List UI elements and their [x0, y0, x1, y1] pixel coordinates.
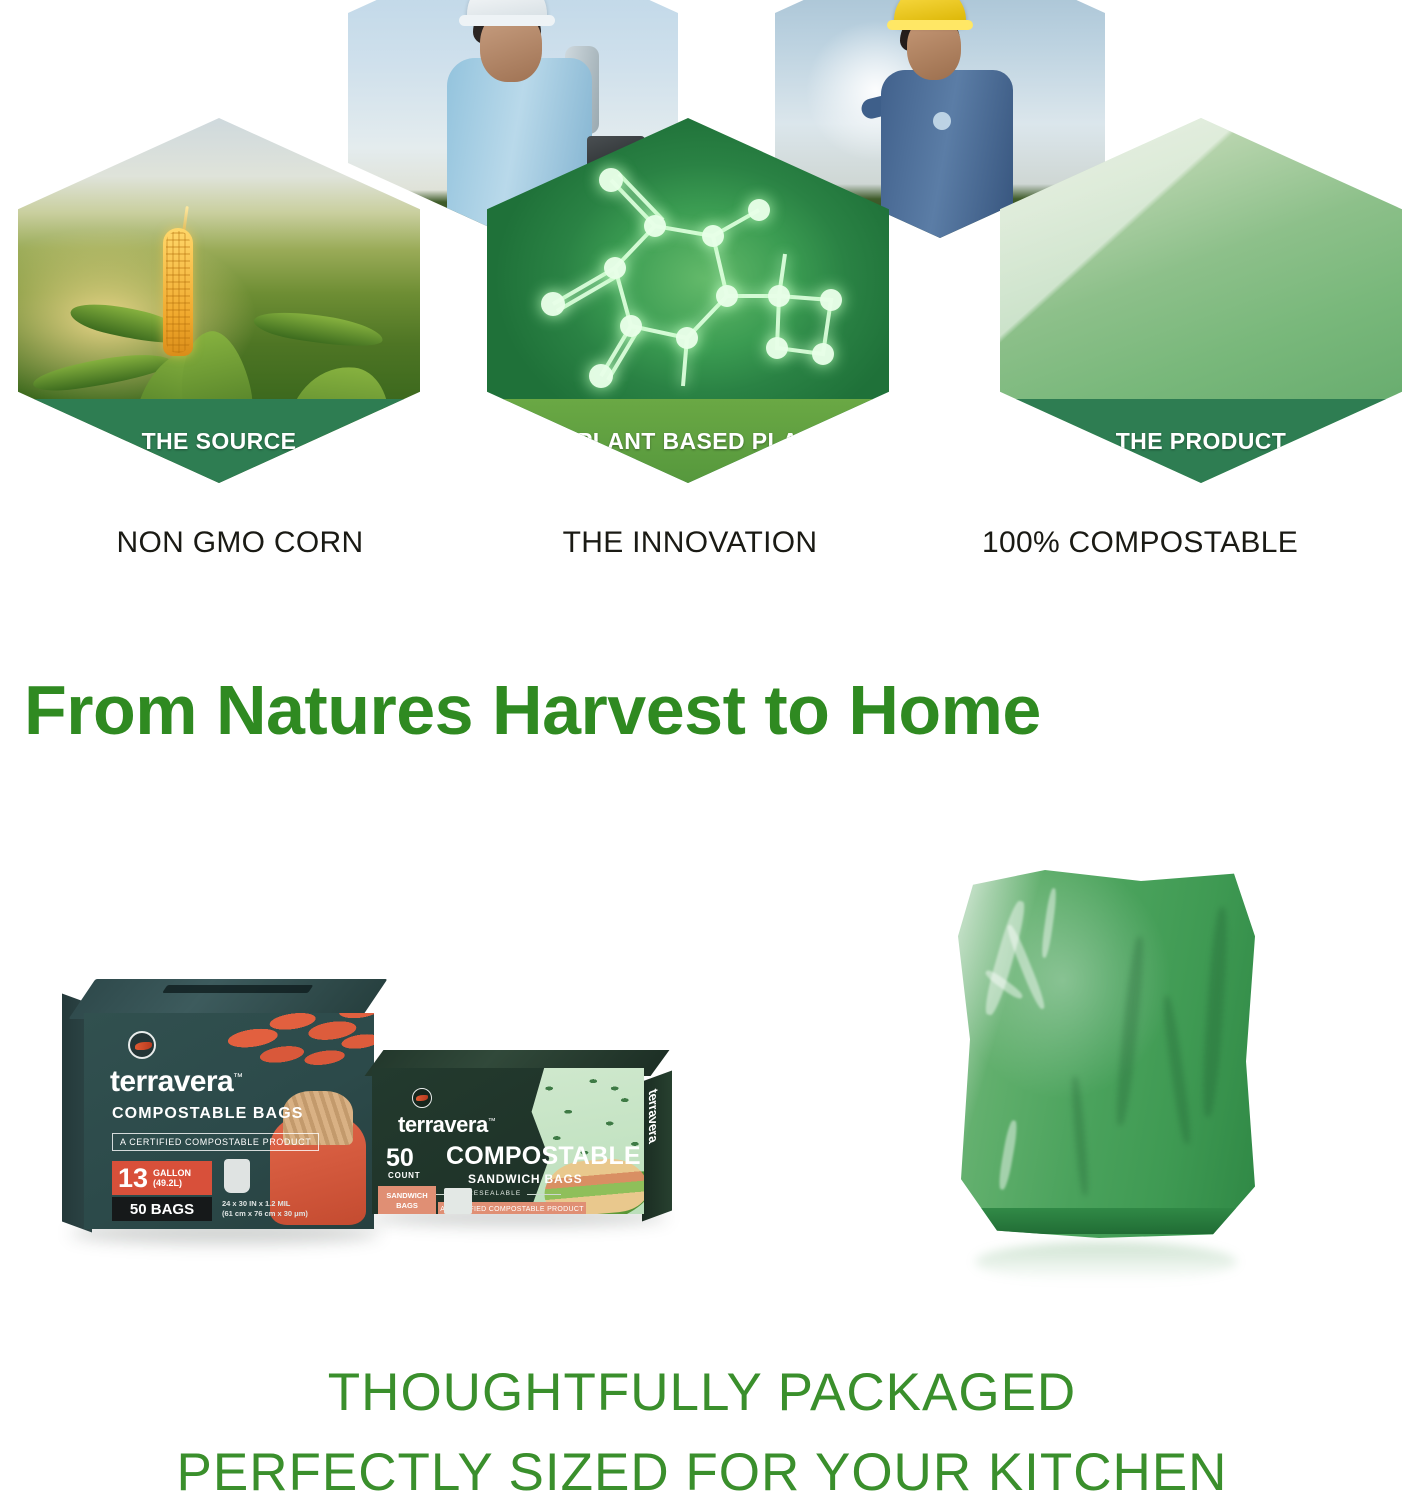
gallon-label: GALLON (49.2L): [153, 1168, 191, 1189]
bag-crease: [997, 1120, 1019, 1191]
product-box-sandwich-bags: terravera terravera™ COMPOSTABLE SANDWIC…: [360, 1072, 672, 1222]
hexagon-band-the-source: THE SOURCE: [18, 399, 420, 483]
hexagon-clip: THE PRODUCT: [1000, 118, 1402, 483]
box-side-panel: terravera: [642, 1071, 672, 1222]
product-name: COMPOSTABLE: [446, 1142, 641, 1171]
hexagon-clip: PLANT BASED PLA: [487, 118, 889, 483]
hexagon-band-label: THE SOURCE: [142, 428, 297, 455]
corn-leaf: [252, 304, 385, 354]
hexagon-band-label: THE PRODUCT: [1116, 428, 1287, 455]
hexagon-tile-the-source: THE SOURCE: [18, 118, 420, 483]
trademark-symbol: ™: [488, 1117, 496, 1126]
side-tag-line-2: BAGS: [396, 1201, 418, 1211]
box-dimensions: 24 x 30 IN x 1.2 MIL (61 cm x 76 cm x 30…: [222, 1199, 308, 1219]
hard-hat-icon: [894, 0, 966, 26]
green-compostable-bag-image: [955, 850, 1255, 1250]
main-headline: From Natures Harvest to Home: [24, 675, 1380, 745]
bag-shape-icon: [444, 1188, 472, 1214]
product-subname: SANDWICH BAGS: [468, 1172, 582, 1186]
bag-fold-shadow: [1161, 995, 1194, 1145]
brand-text: terravera: [398, 1112, 488, 1137]
hard-hat-icon: [467, 0, 547, 21]
bag-body: [955, 870, 1255, 1238]
resealable-label: RESEALABLE: [468, 1190, 521, 1197]
gallon-number: 13: [118, 1165, 148, 1192]
trademark-symbol: ™: [233, 1072, 242, 1083]
bag-base: [961, 1208, 1249, 1234]
box-front-panel: terravera™ COMPOSTABLE SANDWICH BAGS RES…: [372, 1068, 644, 1214]
gallon-badge: 13 GALLON (49.2L): [112, 1161, 212, 1195]
bag-count-badge: 50 BAGS: [112, 1197, 212, 1221]
count-word: COUNT: [388, 1171, 420, 1180]
side-tag-line-1: SANDWICH: [386, 1191, 427, 1201]
gallon-word: GALLON: [153, 1168, 191, 1178]
corn-cob-icon: [163, 228, 193, 356]
hexagon-caption-the-innovation: THE INNOVATION: [450, 526, 930, 560]
terravera-logo-icon: [412, 1088, 432, 1108]
process-hexagon-section: THE SOURCE: [0, 0, 1404, 600]
bag-fold-shadow: [1200, 906, 1231, 1117]
side-tag-badge: SANDWICH BAGS: [378, 1186, 436, 1214]
bag-crease: [1040, 888, 1058, 958]
leaf-pattern-window: [524, 1068, 644, 1214]
hexagon-band-the-product: THE PRODUCT: [1000, 399, 1402, 483]
brand-text: terravera: [110, 1065, 233, 1098]
bag-fold-shadow: [1070, 1076, 1090, 1196]
certification-badge: A CERTIFIED COMPOSTABLE PRODUCT: [112, 1133, 319, 1151]
side-brand-name: terravera: [646, 1087, 661, 1145]
dimensions-metric: (61 cm x 76 cm x 30 μm): [222, 1209, 308, 1218]
bag-reflection: [975, 1242, 1237, 1282]
dimensions-inches: 24 x 30 IN x 1.2 MIL: [222, 1199, 290, 1208]
count-number: 50: [386, 1144, 414, 1173]
bag-fold-shadow: [1113, 936, 1147, 1126]
hexagon-band-plant-based-pla: PLANT BASED PLA: [487, 399, 889, 483]
product-box-13-gallon: terravera™ COMPOSTABLE BAGS A CERTIFIED …: [62, 1015, 374, 1237]
hexagon-clip: THE SOURCE: [18, 118, 420, 483]
brand-name: terravera™: [398, 1112, 495, 1138]
product-name: COMPOSTABLE BAGS: [112, 1105, 304, 1123]
brand-name: terravera™: [110, 1065, 242, 1099]
gallon-liters: (49.2L): [153, 1178, 182, 1188]
bottom-line-packaged: THOUGHTFULLY PACKAGED: [0, 1362, 1404, 1423]
hexagon-band-label: PLANT BASED PLA: [577, 428, 799, 455]
box-front-panel: terravera™ COMPOSTABLE BAGS A CERTIFIED …: [84, 1013, 374, 1229]
bottom-line-sized: PERFECTLY SIZED FOR YOUR KITCHEN: [0, 1442, 1404, 1503]
bag-shape-icon: [224, 1159, 250, 1193]
hexagon-caption-non-gmo-corn: NON GMO CORN: [0, 526, 480, 560]
hexagon-tile-the-product: THE PRODUCT: [1000, 118, 1402, 483]
product-showcase-section: terravera™ COMPOSTABLE BAGS A CERTIFIED …: [0, 830, 1404, 1390]
terravera-logo-icon: [128, 1031, 156, 1059]
hexagon-caption-100-compostable: 100% COMPOSTABLE: [880, 526, 1400, 560]
bag-crease: [1005, 923, 1048, 1010]
hexagon-tile-plant-based-pla: PLANT BASED PLA: [487, 118, 889, 483]
worker-torso: [881, 70, 1013, 238]
